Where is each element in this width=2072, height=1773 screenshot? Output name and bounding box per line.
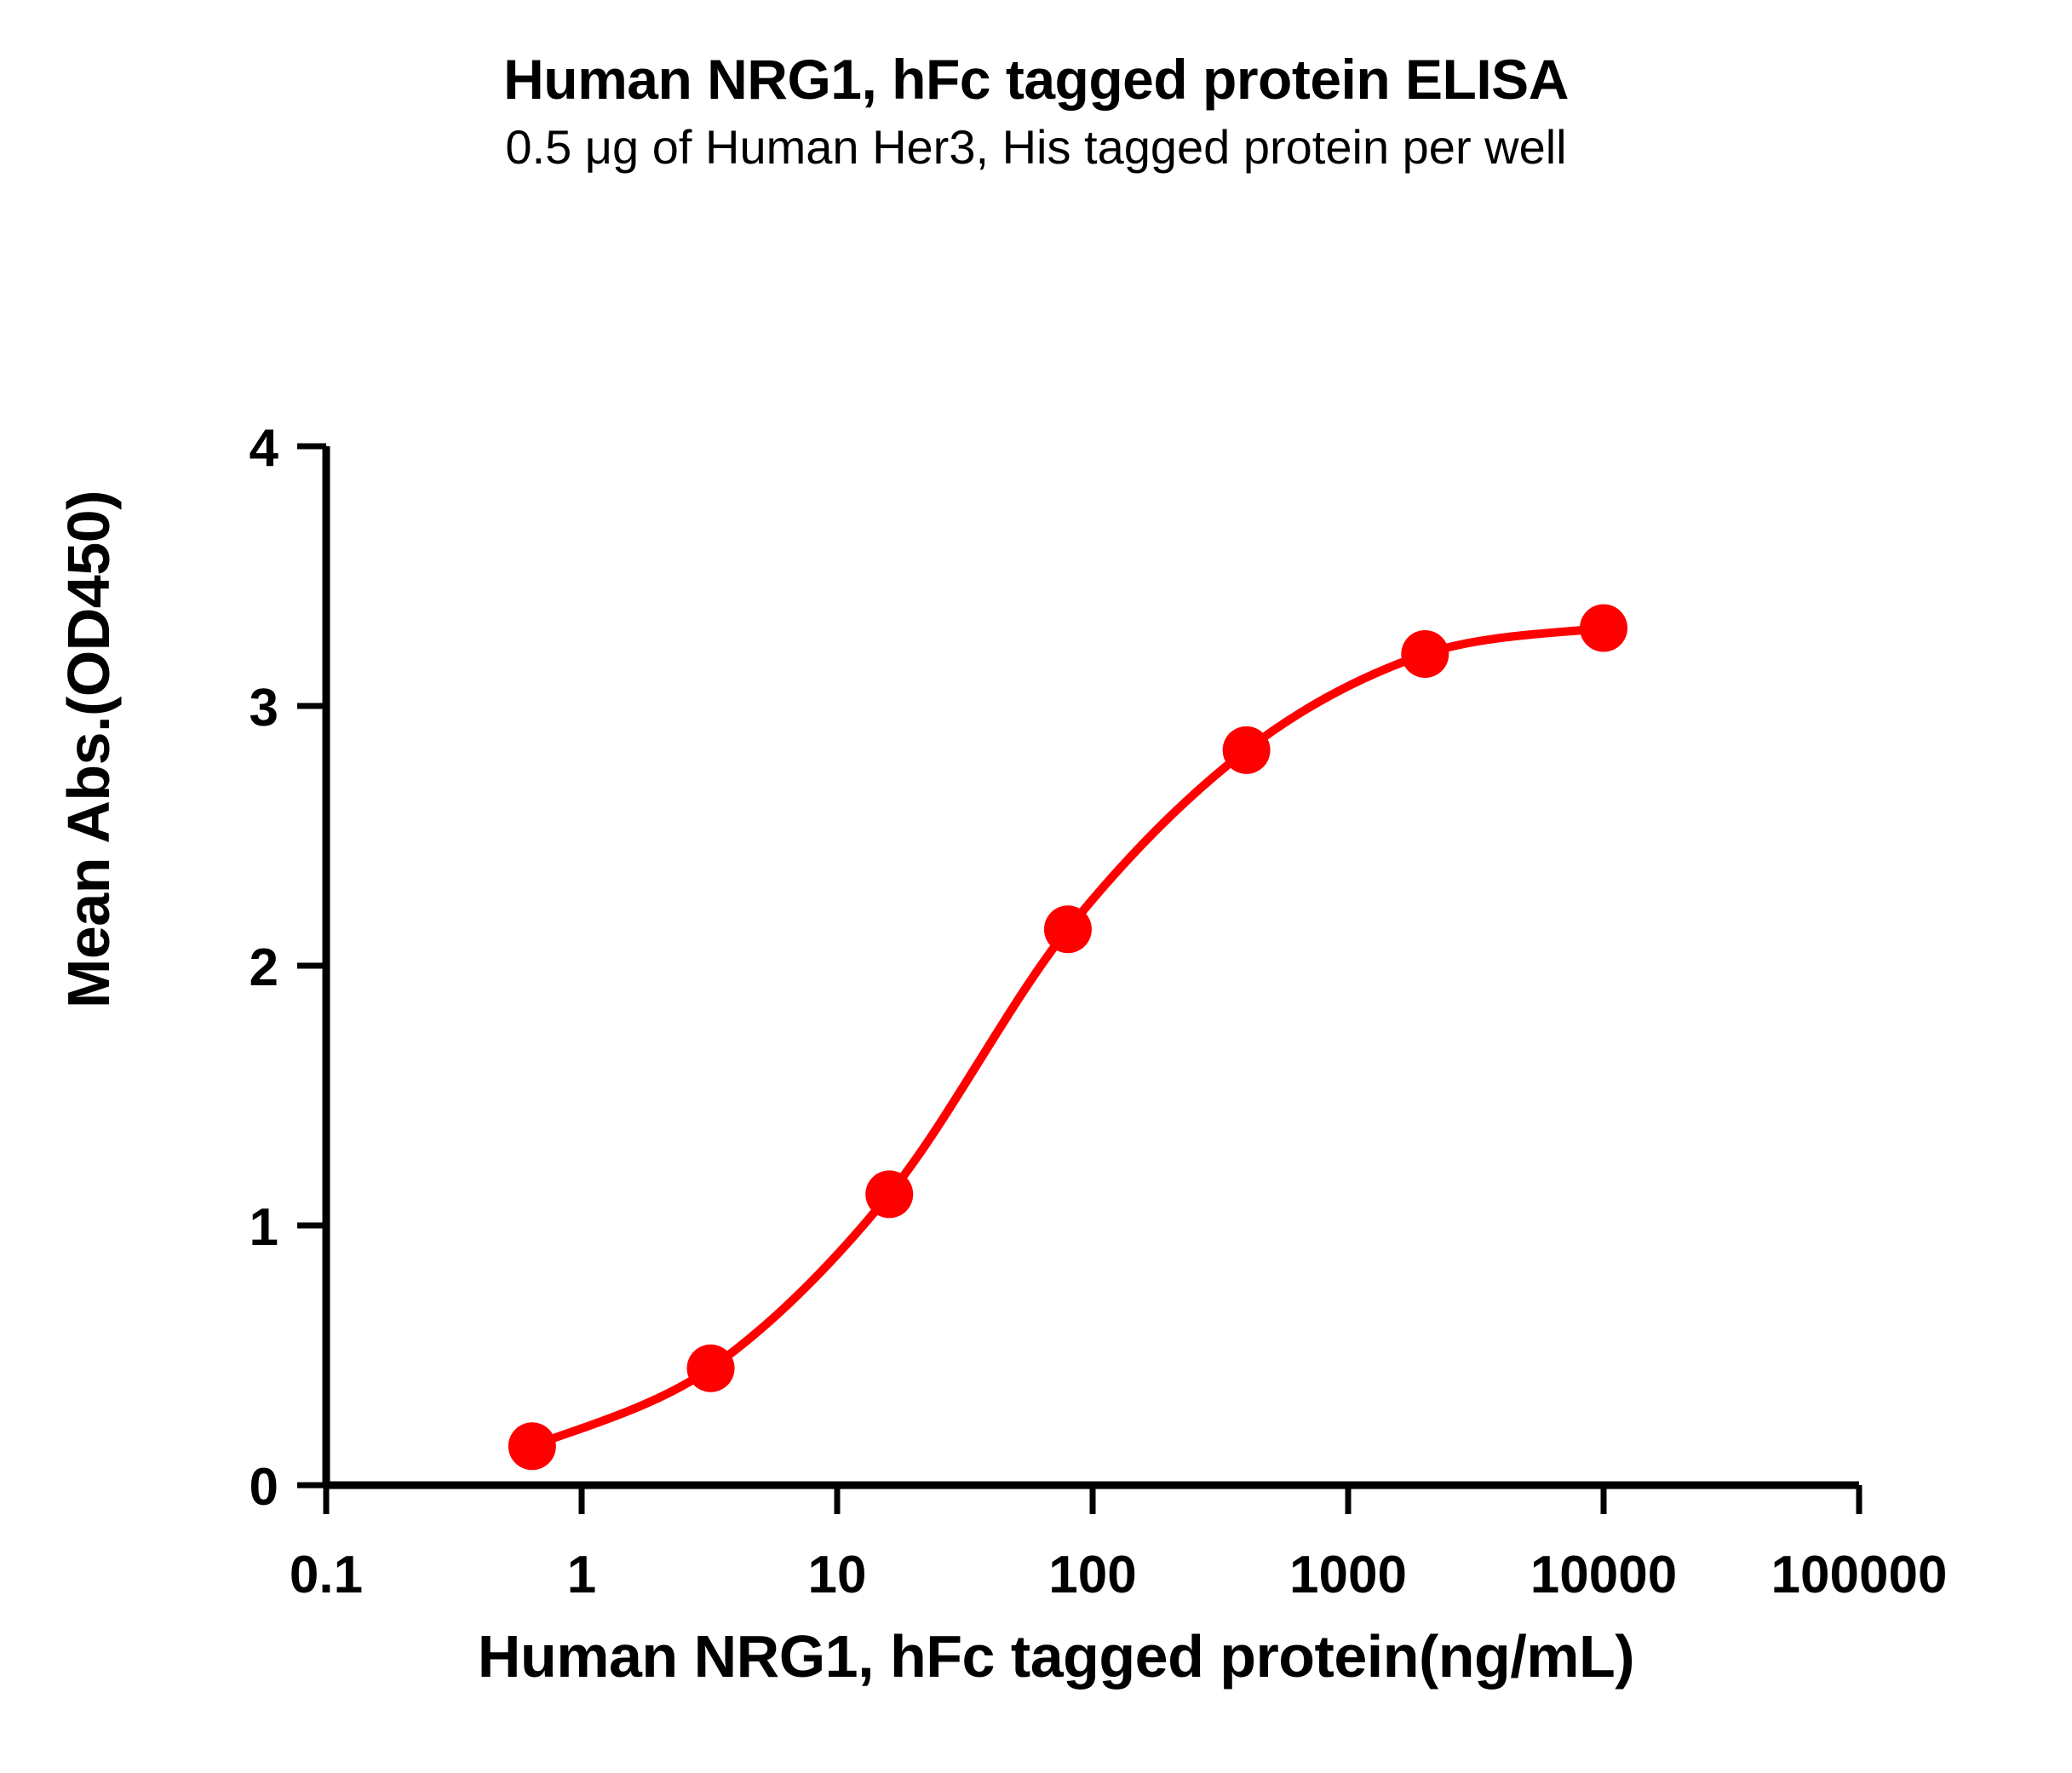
x-tick-label-5: 10000 <box>1530 1546 1677 1604</box>
plot-area: 0.111010010001000010000001234 <box>0 0 2072 1773</box>
y-tick-label-0: 0 <box>250 1458 278 1517</box>
elisa-chart-figure: Human NRG1, hFc tagged protein ELISA 0.5… <box>0 0 2072 1773</box>
y-tick-label-1: 1 <box>250 1198 278 1257</box>
axis-layer: 0.111010010001000010000001234 <box>250 419 1948 1604</box>
x-tick-label-0: 0.1 <box>290 1546 363 1604</box>
data-point-6 <box>1580 605 1627 652</box>
x-tick-label-6: 100000 <box>1771 1546 1948 1604</box>
fit-curve <box>532 628 1604 1447</box>
data-series-layer <box>508 605 1627 1471</box>
x-tick-label-4: 1000 <box>1289 1546 1407 1604</box>
data-point-2 <box>865 1170 913 1218</box>
x-tick-label-1: 1 <box>567 1546 596 1604</box>
y-tick-label-2: 2 <box>250 938 278 997</box>
data-point-1 <box>687 1345 735 1392</box>
data-point-0 <box>508 1422 556 1470</box>
y-tick-label-3: 3 <box>250 679 278 737</box>
y-tick-label-4: 4 <box>250 419 279 478</box>
x-tick-label-3: 100 <box>1048 1546 1136 1604</box>
data-point-5 <box>1401 630 1449 678</box>
data-point-4 <box>1223 726 1271 774</box>
x-tick-label-2: 10 <box>808 1546 867 1604</box>
data-point-3 <box>1044 905 1092 953</box>
